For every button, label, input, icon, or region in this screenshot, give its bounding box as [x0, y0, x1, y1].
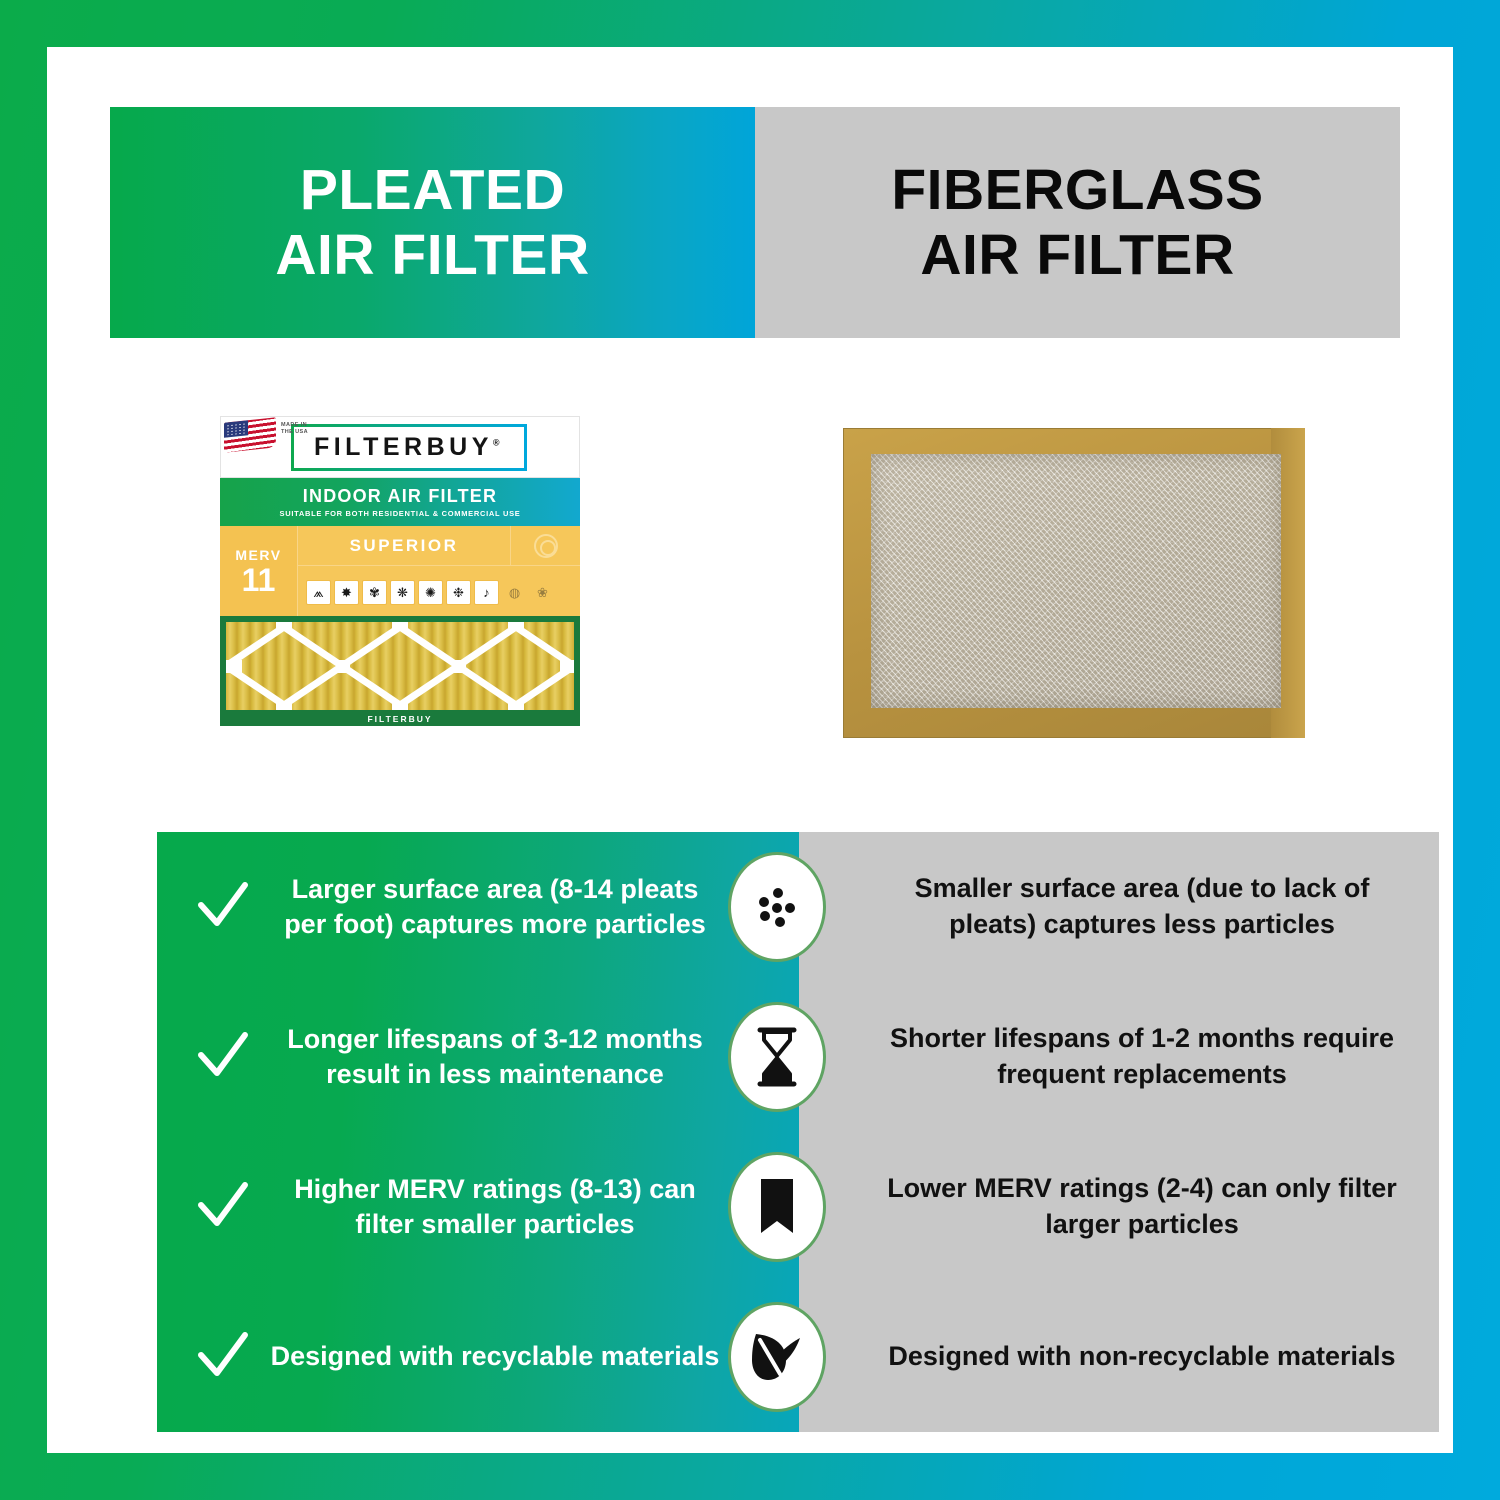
comparison-left-cell: Longer lifespans of 3-12 months result i… [157, 982, 799, 1132]
bookmark-icon [728, 1152, 826, 1262]
leaf-icon [728, 1302, 826, 1412]
header-pleated-line2: AIR FILTER [275, 223, 589, 288]
product-cell-pleated: MADE IN THE USA FILTERBUY® INDOOR AIR FI… [110, 338, 755, 778]
brand-logo-frame: FILTERBUY® [291, 424, 527, 471]
grade-cell: SUPERIOR [298, 526, 511, 566]
comparison-left-text: Larger surface area (8-14 pleats per foo… [269, 872, 721, 942]
comparison-left-cell: Larger surface area (8-14 pleats per foo… [157, 832, 799, 982]
particles-icon [728, 852, 826, 962]
comparison-left-text: Longer lifespans of 3-12 months result i… [269, 1022, 721, 1092]
comparison-row: Designed with recyclable materials Desig… [157, 1282, 1439, 1432]
seal-cell [511, 526, 580, 566]
packaging-brand-band: MADE IN THE USA FILTERBUY® [220, 416, 580, 478]
comparison-right-cell: Lower MERV ratings (2-4) can only filter… [799, 1132, 1439, 1282]
comparison-right-text: Designed with non-recyclable materials [887, 1339, 1397, 1375]
product-images-row: MADE IN THE USA FILTERBUY® INDOOR AIR FI… [110, 338, 1400, 778]
comparison-rows: Larger surface area (8-14 pleats per foo… [157, 832, 1439, 1432]
comparison-row: Larger surface area (8-14 pleats per foo… [157, 832, 1439, 982]
header-fiberglass: FIBERGLASS AIR FILTER [755, 107, 1400, 338]
bacteria-icon: ❋ [390, 580, 415, 605]
mold-spore-icon: ✾ [362, 580, 387, 605]
certification-seal-icon [534, 534, 558, 558]
checkmark-icon [195, 1329, 251, 1385]
made-in-line1: MADE IN [281, 422, 308, 429]
usa-flag-icon [224, 417, 276, 452]
header-fiberglass-title: FIBERGLASS AIR FILTER [891, 158, 1263, 288]
packaging-banner: INDOOR AIR FILTER SUITABLE FOR BOTH RESI… [220, 478, 580, 526]
packaging-merv-band: MERV 11 SUPERIOR ⩕ ✸ ✾ [220, 526, 580, 616]
comparison-row: Higher MERV ratings (8-13) can filter sm… [157, 1132, 1439, 1282]
grade-label: SUPERIOR [350, 536, 459, 556]
brand-logo-text: FILTERBUY® [314, 433, 504, 461]
header-pleated: PLEATED AIR FILTER [110, 107, 755, 338]
comparison-left-text: Higher MERV ratings (8-13) can filter sm… [269, 1172, 721, 1242]
merv-badge: MERV 11 [220, 526, 298, 616]
checkmark-icon [195, 879, 251, 935]
pleat-brand-label: FILTERBUY [220, 714, 580, 724]
pet-dander-icon: ❉ [446, 580, 471, 605]
header-row: PLEATED AIR FILTER FIBERGLASS AIR FILTER [110, 107, 1400, 338]
comparison-panel: Larger surface area (8-14 pleats per foo… [157, 832, 1439, 1432]
comparison-right-cell: Shorter lifespans of 1-2 months require … [799, 982, 1439, 1132]
pleat-media [226, 622, 574, 710]
header-fiberglass-line2: AIR FILTER [891, 223, 1263, 288]
comparison-row: Longer lifespans of 3-12 months result i… [157, 982, 1439, 1132]
merv-label: MERV [235, 547, 281, 563]
comparison-right-cell: Smaller surface area (due to lack of ple… [799, 832, 1439, 982]
comparison-right-text: Lower MERV ratings (2-4) can only filter… [887, 1171, 1397, 1242]
filter-capability-icons: ⩕ ✸ ✾ ❋ ✺ ❉ ♪ ◍ ❀ [306, 570, 572, 614]
merv-value: 11 [242, 564, 276, 596]
checkmark-icon [195, 1029, 251, 1085]
header-fiberglass-line1: FIBERGLASS [891, 158, 1263, 223]
packaging-banner-title: INDOOR AIR FILTER [303, 486, 497, 507]
made-in-line2: THE USA [281, 429, 308, 436]
infographic-canvas: PLEATED AIR FILTER FIBERGLASS AIR FILTER [47, 47, 1453, 1453]
made-in-usa-label: MADE IN THE USA [281, 422, 308, 436]
smoke-icon: ♪ [474, 580, 499, 605]
header-pleated-title: PLEATED AIR FILTER [275, 158, 589, 288]
fiberglass-mesh [871, 454, 1281, 708]
comparison-right-text: Smaller surface area (due to lack of ple… [887, 871, 1397, 942]
virus-icon: ✺ [418, 580, 443, 605]
support-lattice-icon [226, 622, 574, 710]
fiberglass-filter-image [843, 428, 1305, 738]
comparison-right-text: Shorter lifespans of 1-2 months require … [887, 1021, 1397, 1092]
product-cell-fiberglass [755, 338, 1400, 778]
pleated-filter-image: MADE IN THE USA FILTERBUY® INDOOR AIR FI… [220, 416, 580, 776]
comparison-left-cell: Designed with recyclable materials [157, 1282, 799, 1432]
dust-icon: ⩕ [306, 580, 331, 605]
comparison-left-cell: Higher MERV ratings (8-13) can filter sm… [157, 1132, 799, 1282]
header-pleated-line1: PLEATED [275, 158, 589, 223]
checkmark-icon [195, 1179, 251, 1235]
pollen-icon: ✸ [334, 580, 359, 605]
packaging-banner-subtitle: SUITABLE FOR BOTH RESIDENTIAL & COMMERCI… [280, 509, 521, 518]
odor-icon: ◍ [502, 580, 527, 605]
comparison-left-text: Designed with recyclable materials [269, 1339, 721, 1374]
allergen-icon: ❀ [530, 580, 555, 605]
infographic-root: PLEATED AIR FILTER FIBERGLASS AIR FILTER [0, 0, 1500, 1500]
pleat-media-area: FILTERBUY [220, 616, 580, 726]
hourglass-icon [728, 1002, 826, 1112]
comparison-right-cell: Designed with non-recyclable materials [799, 1282, 1439, 1432]
